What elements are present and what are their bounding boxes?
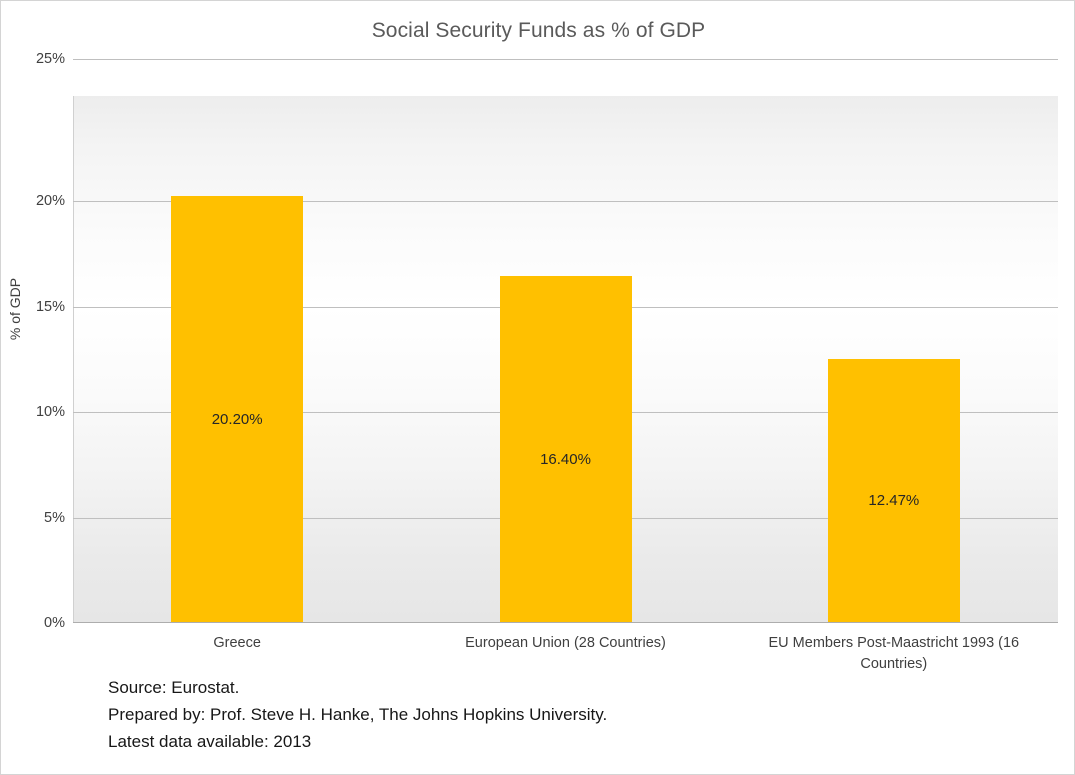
y-tick-label: 25% (7, 51, 65, 67)
chart-title: Social Security Funds as % of GDP (1, 19, 1075, 43)
bar[interactable]: 16.40% (500, 276, 632, 622)
y-tick-label: 5% (7, 510, 65, 526)
plot-area: 25%20%15%10%5%0% 20.20%16.40%12.47% (73, 59, 1058, 623)
footer-source: Source: Eurostat. (108, 674, 607, 701)
x-category-label: EU Members Post-Maastricht 1993 (16 Coun… (737, 633, 1051, 675)
y-tick-label: 15% (7, 299, 65, 315)
y-tick-label: 10% (7, 404, 65, 420)
y-tick-label: 20% (7, 193, 65, 209)
y-tick-label: 0% (7, 615, 65, 631)
bar[interactable]: 12.47% (828, 359, 960, 622)
chart-page: Social Security Funds as % of GDP % of G… (0, 0, 1075, 775)
x-axis-line (73, 622, 1058, 623)
bar-value-label: 16.40% (500, 451, 632, 468)
gridline (73, 59, 1058, 60)
bar-value-label: 12.47% (828, 492, 960, 509)
bar[interactable]: 20.20% (171, 196, 303, 622)
x-category-label: European Union (28 Countries) (408, 633, 722, 654)
x-category-label: Greece (80, 633, 394, 654)
y-axis-line (73, 96, 74, 623)
footer-latest-data: Latest data available: 2013 (108, 728, 607, 755)
bar-value-label: 20.20% (171, 411, 303, 428)
footer-notes: Source: Eurostat. Prepared by: Prof. Ste… (108, 674, 607, 755)
footer-prepared-by: Prepared by: Prof. Steve H. Hanke, The J… (108, 701, 607, 728)
